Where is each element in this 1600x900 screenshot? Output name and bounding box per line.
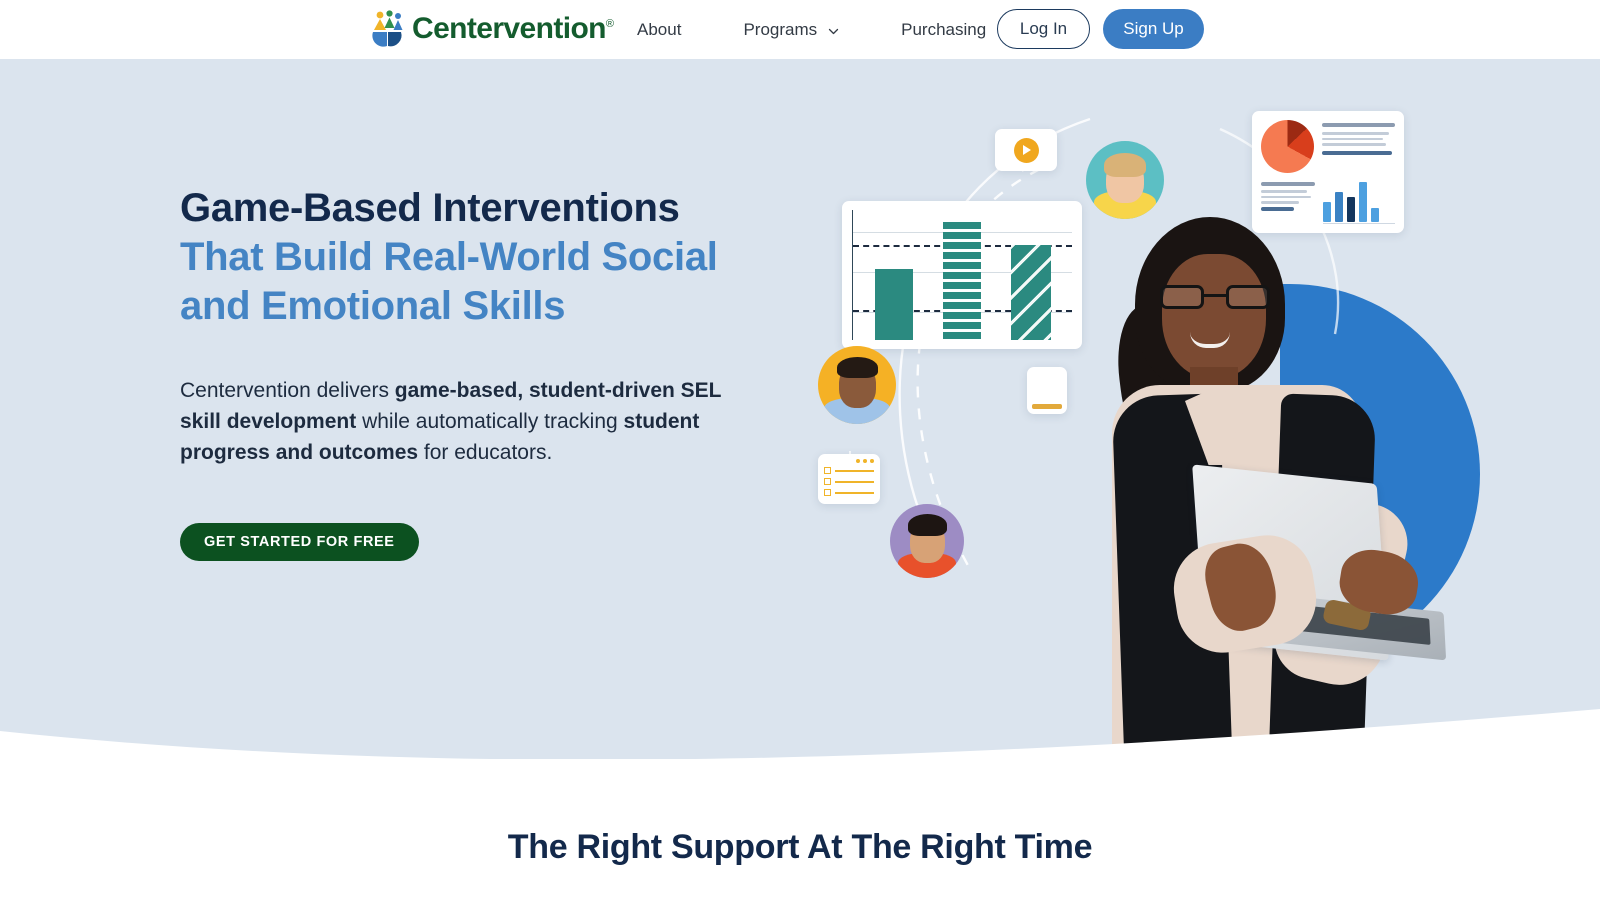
hero-illustration [790, 59, 1490, 759]
student-avatar-purple [890, 504, 964, 578]
window-dots-icon [824, 459, 874, 463]
pie-chart-icon [1261, 120, 1314, 173]
nav-item-programs[interactable]: Programs [743, 20, 839, 40]
get-started-button[interactable]: GET STARTED FOR FREE [180, 523, 419, 561]
hero-heading-line2: That Build Real-World Social [180, 235, 718, 279]
play-icon [1014, 138, 1039, 163]
section-title: The Right Support At The Right Time [0, 828, 1600, 867]
bar-3 [1011, 245, 1051, 340]
signup-button[interactable]: Sign Up [1103, 9, 1204, 49]
hero-heading: Game-Based Interventions That Build Real… [180, 184, 780, 331]
hero-copy: Game-Based Interventions That Build Real… [180, 184, 780, 561]
nav-item-about[interactable]: About [637, 20, 681, 40]
educator-with-laptop-photo [1090, 199, 1410, 759]
hero-section: Game-Based Interventions That Build Real… [0, 59, 1600, 759]
nav-label-programs: Programs [743, 20, 817, 40]
centervention-logo-mark-icon [370, 8, 406, 50]
hero-bottom-wave [0, 691, 1600, 759]
auth-buttons: Log In Sign Up [997, 9, 1204, 49]
chevron-down-icon [828, 22, 839, 33]
bar-2 [943, 222, 981, 340]
play-button-card [995, 129, 1057, 171]
logo-trademark: ® [606, 18, 614, 30]
glasses-icon [1160, 285, 1270, 309]
nav-label-purchasing: Purchasing [901, 20, 986, 40]
hero-heading-line3: and Emotional Skills [180, 284, 565, 328]
para-part2: while automatically tracking [356, 410, 623, 433]
hero-heading-line1: Game-Based Interventions [180, 186, 680, 230]
para-part1: Centervention delivers [180, 379, 395, 402]
login-button[interactable]: Log In [997, 9, 1090, 49]
hero-paragraph: Centervention delivers game-based, stude… [180, 375, 765, 468]
book-spine-icon [1032, 404, 1062, 409]
student-avatar-yellow [818, 346, 896, 424]
para-part3: for educators. [418, 441, 552, 464]
book-card [1027, 367, 1067, 414]
main-navigation: About Programs Purchasing [637, 0, 986, 59]
bar-chart-card [842, 201, 1082, 349]
checklist-window-card [818, 454, 880, 504]
nav-item-purchasing[interactable]: Purchasing [901, 20, 986, 40]
logo-text: Centervention® [412, 14, 613, 44]
logo[interactable]: Centervention® [370, 8, 613, 50]
site-header: Centervention® About Programs Purchasing… [0, 0, 1600, 59]
bar-1 [875, 269, 913, 340]
nav-label-about: About [637, 20, 681, 40]
bar-chart-plot [852, 210, 1072, 340]
